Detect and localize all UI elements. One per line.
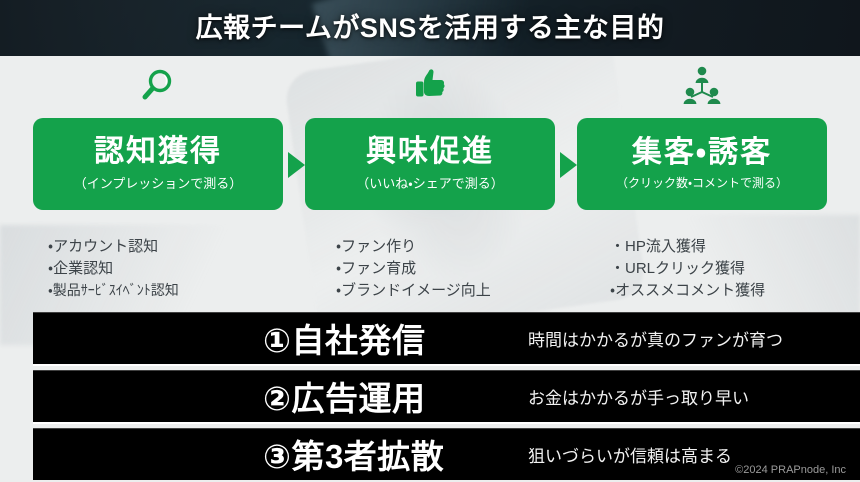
list-item: ・ブランドイメージ向上 [336, 280, 591, 302]
magnifier-icon [138, 66, 178, 111]
list-item: ・オススメコメント獲得 [610, 280, 860, 302]
stage-card-subtitle: （インプレッションで測る） [74, 173, 243, 192]
list-item: ・企業認知 [48, 258, 303, 280]
stage-arrow-2-to-3-icon [560, 152, 577, 178]
thumbs-up-icon [412, 66, 448, 111]
slide-header: 広報チームがSNSを活用する主な目的 [0, 0, 860, 56]
method-row-description: お金はかかるが手っ取り早い [528, 384, 749, 409]
stage-card-title: 集客・誘客 [632, 137, 772, 169]
row-divider-2 [33, 422, 860, 424]
network-people-icon [681, 65, 723, 112]
stage-bullets-2: ・ファン作り ・ファン育成 ・ブランドイメージ向上 [336, 236, 591, 302]
list-item: ・ファン育成 [336, 258, 591, 280]
method-row-1[interactable]: ①自社発信 時間はかかるが真のファンが育つ [33, 312, 860, 364]
list-item: ・ファン作り [336, 236, 591, 258]
stage-card-3[interactable]: 集客・誘客 （クリック数・コメントで測る） [577, 118, 827, 210]
stage-card-2[interactable]: 興味促進 （いいね・シェアで測る） [305, 118, 555, 210]
slide-canvas: 広報チームがSNSを活用する主な目的 [0, 0, 860, 482]
stage-card-title: 興味促進 [366, 136, 494, 168]
copyright-notice: ©2024 PRAPnode, Inc [735, 464, 846, 476]
list-item: ・アカウント認知 [48, 236, 303, 258]
list-item: ・製品ｻｰﾋﾞｽｲﾍﾞﾝﾄ認知 [48, 280, 303, 301]
stage-arrow-1-to-2-icon [288, 152, 305, 178]
stage-bullets-3: ・HP流入獲得 ・URLクリック獲得 ・オススメコメント獲得 [610, 236, 860, 302]
stage-card-1[interactable]: 認知獲得 （インプレッションで測る） [33, 118, 283, 210]
stage-icon-row [0, 62, 860, 114]
stage-icon-cell-2 [305, 62, 555, 114]
stage-card-title: 認知獲得 [94, 136, 222, 168]
method-row-3[interactable]: ③第3者拡散 狙いづらいが信頼は高まる ©2024 PRAPnode, Inc [33, 428, 860, 480]
list-item: ・HP流入獲得 [610, 236, 860, 258]
row-divider-1 [33, 364, 860, 366]
method-row-title: ①自社発信 [263, 314, 425, 362]
method-row-description: 狙いづらいが信頼は高まる [528, 442, 732, 467]
stage-icon-cell-1 [33, 62, 283, 114]
list-item: ・URLクリック獲得 [610, 258, 860, 280]
page-title: 広報チームがSNSを活用する主な目的 [0, 0, 860, 56]
stage-icon-cell-3 [577, 62, 827, 114]
stage-card-subtitle: （いいね・シェアで測る） [356, 173, 503, 192]
stage-card-subtitle: （クリック数・コメントで測る） [616, 174, 788, 191]
stage-bullets-1: ・アカウント認知 ・企業認知 ・製品ｻｰﾋﾞｽｲﾍﾞﾝﾄ認知 [48, 236, 303, 301]
method-row-2[interactable]: ②広告運用 お金はかかるが手っ取り早い [33, 370, 860, 422]
method-row-title: ②広告運用 [263, 372, 425, 420]
method-row-description: 時間はかかるが真のファンが育つ [528, 326, 783, 351]
method-row-title: ③第3者拡散 [263, 430, 444, 478]
